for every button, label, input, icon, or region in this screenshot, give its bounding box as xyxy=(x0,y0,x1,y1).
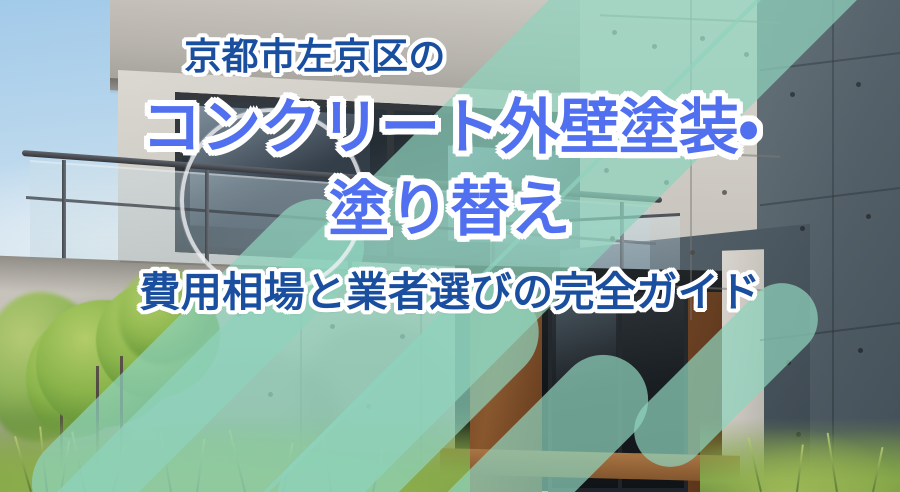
banner-title-line-1: コンクリート外壁塗装・ xyxy=(141,95,758,162)
banner-subtitle: 費用相場と業者選びの完全ガイド xyxy=(139,270,760,316)
banner-eyebrow: 京都市左京区の xyxy=(184,36,446,77)
blog-header-banner: 京都市左京区の コンクリート外壁塗装・ 塗り替え 費用相場と業者選びの完全ガイド xyxy=(0,0,900,492)
banner-title-line-2: 塗り替え xyxy=(329,177,571,244)
banner-text-layer: 京都市左京区の コンクリート外壁塗装・ 塗り替え 費用相場と業者選びの完全ガイド xyxy=(0,0,900,492)
